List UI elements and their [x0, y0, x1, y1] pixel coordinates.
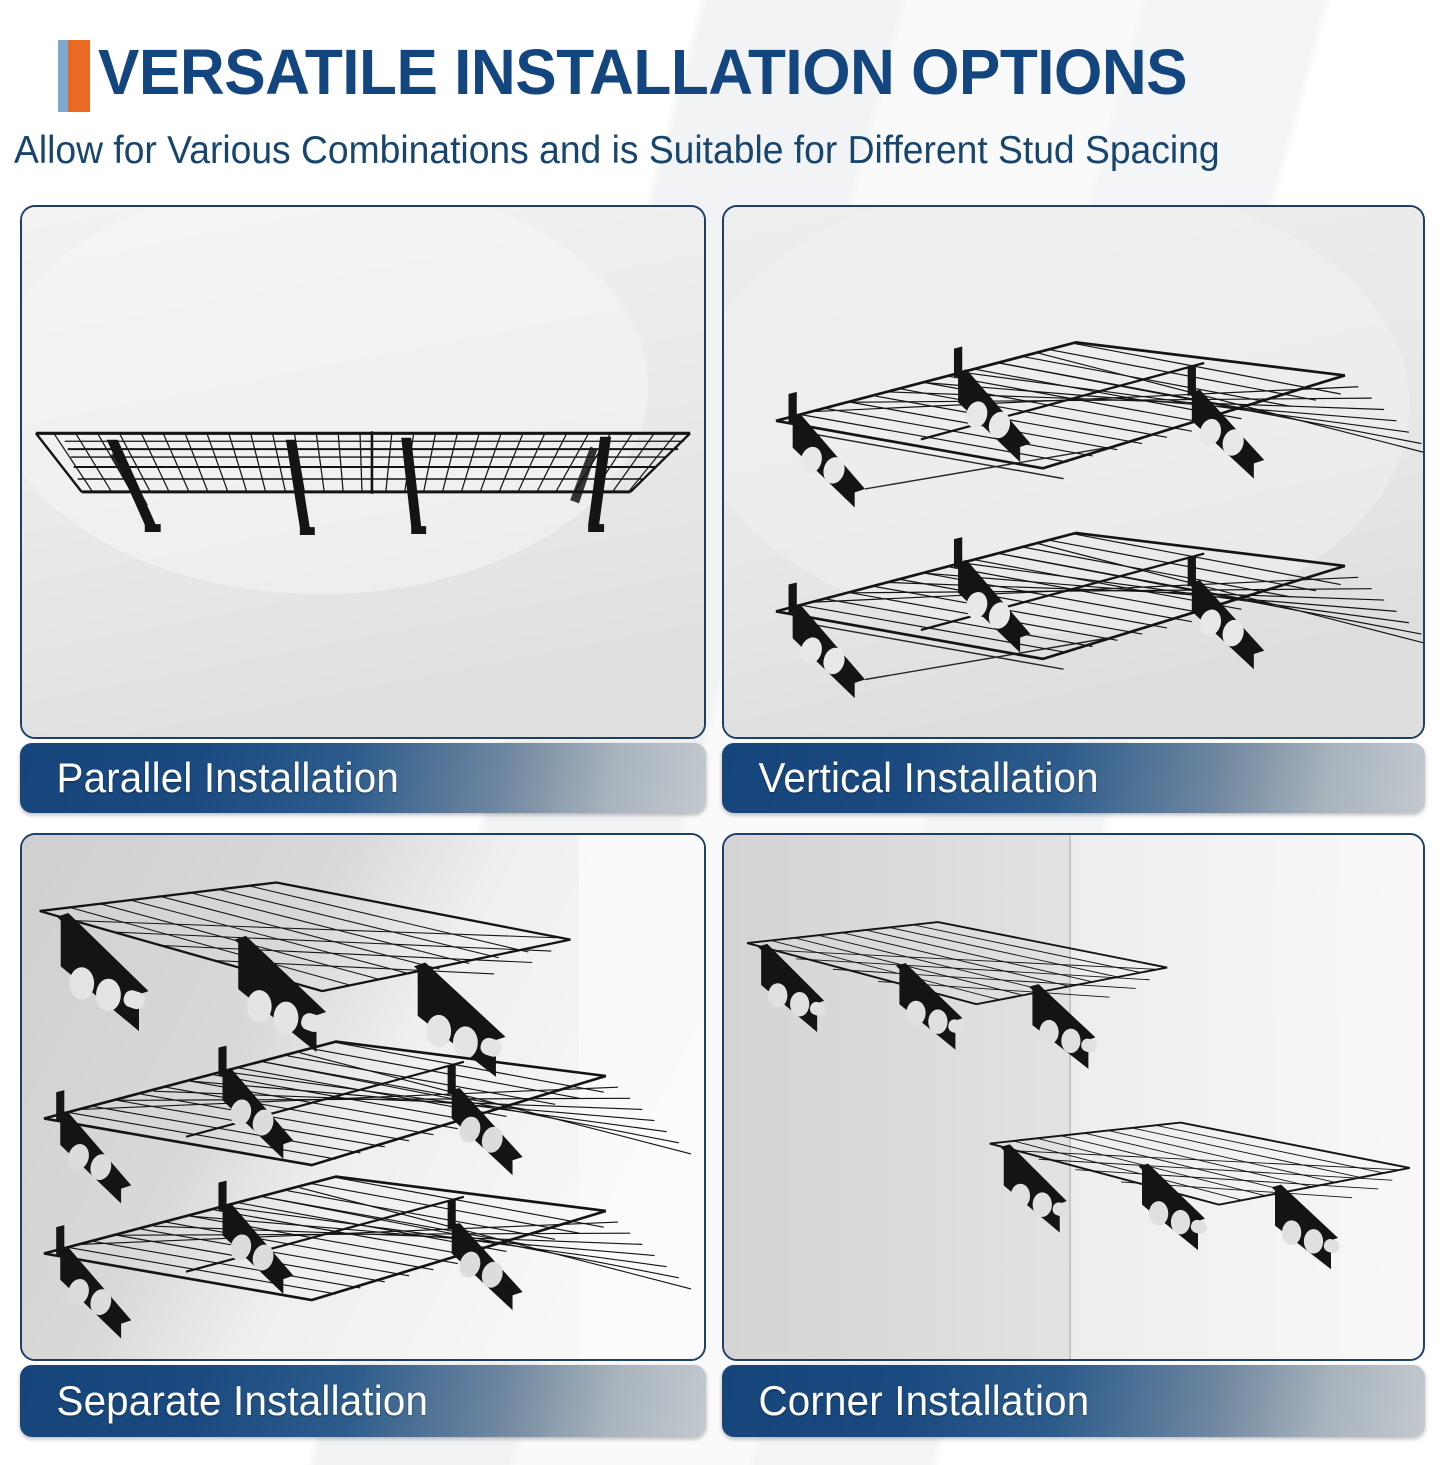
illustration-parallel [22, 207, 704, 737]
label-vertical-installation: Vertical Installation [722, 754, 1099, 802]
label-bar-corner: Corner Installation [722, 1365, 1425, 1437]
photo-corner-installation [722, 833, 1425, 1361]
accent-orange-stripe [68, 40, 90, 112]
illustration-separate [22, 835, 704, 1359]
illustration-vertical [724, 207, 1423, 737]
card-corner-installation: Corner Installation [722, 833, 1425, 1445]
label-parallel-installation: Parallel Installation [20, 754, 399, 802]
illustration-corner [724, 835, 1423, 1359]
page-title: VERSATILE INSTALLATION OPTIONS [98, 36, 1187, 112]
header: VERSATILE INSTALLATION OPTIONS Allow for… [0, 0, 1445, 196]
label-bar-separate: Separate Installation [20, 1365, 706, 1437]
label-separate-installation: Separate Installation [20, 1377, 428, 1425]
photo-parallel-installation [20, 205, 706, 739]
label-bar-vertical: Vertical Installation [722, 743, 1425, 813]
card-separate-installation: Separate Installation [20, 833, 706, 1445]
page-subtitle: Allow for Various Combinations and is Su… [14, 126, 1370, 176]
card-parallel-installation: Parallel Installation [20, 205, 706, 813]
infographic-root: VERSATILE INSTALLATION OPTIONS Allow for… [0, 0, 1445, 1465]
label-bar-parallel: Parallel Installation [20, 743, 706, 813]
wall-left [724, 835, 1070, 1359]
label-corner-installation: Corner Installation [722, 1377, 1089, 1425]
title-row: VERSATILE INSTALLATION OPTIONS [58, 36, 1221, 112]
accent-blue-stripe [58, 40, 68, 112]
photo-separate-installation [20, 833, 706, 1361]
photo-vertical-installation [722, 205, 1425, 739]
wall-right [1070, 835, 1423, 1359]
card-vertical-installation: Vertical Installation [722, 205, 1425, 813]
title-accent-bar [58, 40, 90, 112]
